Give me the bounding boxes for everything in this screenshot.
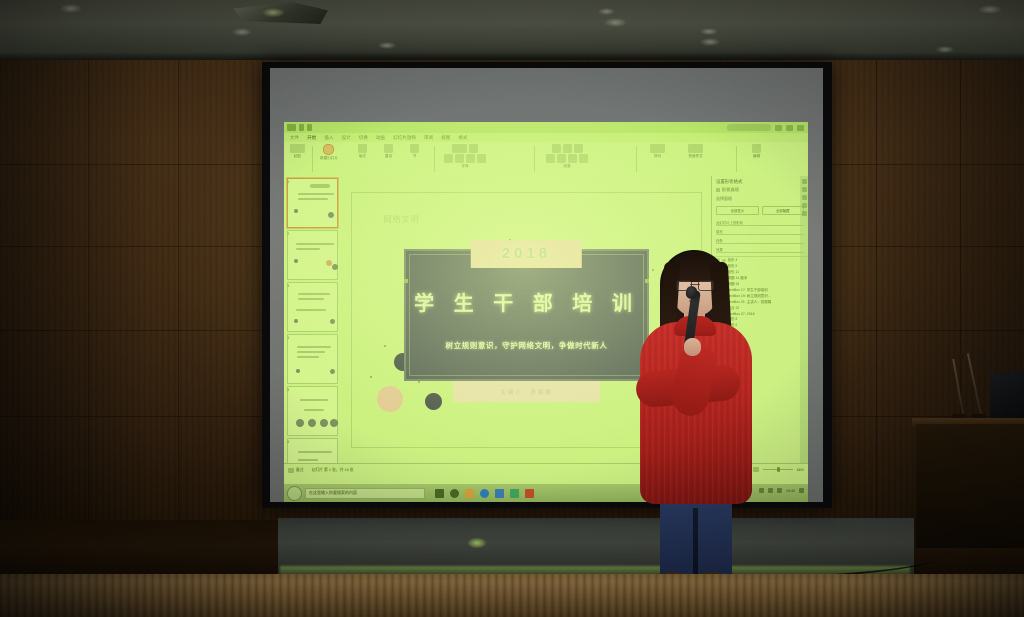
thumb-line	[297, 351, 325, 353]
search-input[interactable]: 在这里输入你要搜索的内容	[305, 488, 425, 499]
thumb-dot	[332, 264, 338, 270]
ribbon-group-edit[interactable]: 编辑	[752, 144, 761, 159]
thumb-dot	[326, 260, 332, 266]
thumb-line	[298, 298, 324, 300]
paragraph-row-2[interactable]	[546, 154, 588, 163]
projector-lens-icon	[262, 8, 284, 17]
tab-slideshow[interactable]: 幻灯片放映	[393, 135, 416, 141]
thumbnail-number: 4	[288, 336, 290, 340]
clock-time[interactable]: 19:42	[786, 489, 795, 493]
ribbon-label: 节	[413, 154, 417, 159]
cortana-icon[interactable]	[450, 489, 459, 498]
thumb-dot	[320, 419, 328, 427]
glasses-lens-right	[698, 280, 714, 291]
ribbon-label: 版式	[359, 154, 366, 159]
ribbon-group-section[interactable]: 节	[410, 144, 419, 159]
pane-field-fill[interactable]: 填充	[716, 228, 804, 235]
save-icon[interactable]	[287, 124, 296, 131]
thumb-line	[296, 243, 334, 245]
tab-view[interactable]: 视图	[441, 135, 450, 141]
pane-icon-rail[interactable]	[800, 176, 808, 464]
ribbon-separator	[312, 146, 313, 172]
thumb-line	[298, 293, 330, 295]
ceiling-downlight	[60, 4, 82, 13]
numbering-icon[interactable]	[563, 144, 572, 153]
thumb-dot	[308, 419, 316, 427]
slide-thumbnail[interactable]: 4	[287, 334, 338, 384]
wechat-icon[interactable]	[510, 489, 519, 498]
align-left-icon[interactable]	[546, 154, 555, 163]
file-explorer-icon[interactable]	[465, 489, 474, 498]
thumb-dot	[294, 209, 298, 213]
task-view-icon[interactable]	[435, 489, 444, 498]
thumb-dot	[296, 419, 304, 427]
font-size-box[interactable]	[469, 144, 478, 153]
pane-subtitle-text: 形状选项	[722, 187, 739, 193]
presenter-band[interactable]: 主讲人：张丽娟	[453, 381, 599, 403]
presenter-person	[632, 246, 758, 586]
design-icon[interactable]	[802, 211, 807, 216]
ribbon-group-paragraph[interactable]: 段落	[546, 144, 588, 169]
start-button[interactable]	[287, 486, 302, 501]
pane-subtitle: 形状选项	[712, 186, 808, 194]
underline-icon[interactable]	[466, 154, 475, 163]
paste-icon[interactable]	[290, 144, 305, 153]
edge-icon[interactable]	[480, 489, 489, 498]
zoom-level-label: 66%	[797, 468, 804, 472]
decor-circle-dark	[425, 393, 442, 410]
ribbon-body[interactable]: 粘贴 新建幻灯片 版式 重设 节	[284, 142, 808, 177]
thumb-dot	[328, 212, 334, 218]
close-button[interactable]	[797, 125, 804, 131]
ribbon-group-font[interactable]: 字体	[444, 144, 486, 169]
slide-watermark: 网络文明	[384, 214, 420, 225]
ceiling-downlight	[598, 8, 615, 15]
thumb-line	[298, 193, 334, 195]
decor-dot	[384, 345, 386, 347]
year-text: 2018	[502, 245, 551, 262]
thumbnail-number: 1	[288, 180, 290, 184]
tab-transitions[interactable]: 切换	[359, 135, 368, 141]
ribbon-label: 重设	[385, 154, 392, 159]
ceiling-downlight	[700, 28, 718, 35]
thumb-line	[298, 459, 318, 461]
ribbon-label: 编辑	[753, 154, 760, 159]
decor-circle-peach	[377, 386, 403, 412]
font-style-row[interactable]	[444, 154, 486, 163]
slide-thumbnail[interactable]: 3	[287, 282, 338, 332]
thumb-line	[297, 356, 319, 358]
quick-access-toolbar[interactable]	[287, 124, 312, 131]
decor-dot	[370, 376, 372, 378]
network-icon[interactable]	[759, 488, 764, 493]
slide-thumbnail[interactable]: 1	[287, 178, 338, 228]
ceiling-downlight	[936, 46, 954, 53]
thumb-line	[304, 409, 324, 411]
selection-icon[interactable]	[802, 203, 807, 208]
layout-icon[interactable]	[358, 144, 367, 153]
selection-pane-link[interactable]: 选择窗格	[712, 194, 808, 204]
notification-icon[interactable]	[799, 488, 804, 493]
thumb-line	[296, 248, 320, 250]
title-frame[interactable]: 2018 学 生 干 部 培 训 树立规则意识，守护网络文明，争做时代新人	[404, 249, 648, 381]
slide-thumbnail-panel[interactable]: 1 2 3	[284, 176, 342, 464]
line-spacing-icon[interactable]	[579, 154, 588, 163]
ime-icon[interactable]	[777, 488, 782, 493]
thumb-line	[297, 346, 331, 348]
tab-animations[interactable]: 动画	[376, 135, 385, 141]
show-all-button[interactable]: 全部显示	[716, 206, 759, 215]
indent-icon[interactable]	[574, 144, 583, 153]
slide-subtitle: 树立规则意识，守护网络文明，争做时代新人	[406, 340, 646, 351]
pane-field-shapes[interactable]: 此幻灯片上的形状	[716, 219, 804, 226]
slide-thumbnail[interactable]: 2	[287, 230, 338, 280]
status-notes[interactable]: 备注 幻灯片 第 1 张，共 16 张	[288, 468, 354, 473]
stage-shadow-right	[844, 574, 1024, 617]
thumb-dot	[296, 369, 300, 373]
podium-laptop	[990, 370, 1024, 424]
podium	[916, 424, 1024, 548]
account-chip[interactable]	[727, 124, 771, 131]
minimize-button[interactable]	[775, 125, 782, 131]
ribbon-group-quick-styles[interactable]: 快速样式	[688, 144, 703, 159]
thumbnail-number: 5	[288, 388, 290, 392]
auditorium-photo: 文件 开始 插入 设计 切换 动画 幻灯片放映 审阅 视图 格式 粘贴	[0, 0, 1024, 617]
zoom-slider-knob[interactable]	[777, 467, 780, 472]
bullets-icon[interactable]	[552, 144, 561, 153]
hand	[684, 338, 701, 356]
thumb-line	[298, 198, 328, 200]
align-right-icon[interactable]	[568, 154, 577, 163]
store-icon[interactable]	[495, 489, 504, 498]
podium-microphone-head	[958, 354, 964, 359]
thumbnail-number: 2	[288, 232, 290, 236]
ceiling-downlight	[604, 18, 627, 27]
tab-review[interactable]: 审阅	[424, 135, 433, 141]
window-controls[interactable]	[727, 124, 804, 131]
thumb-shape	[310, 184, 330, 188]
presenter-text: 主讲人：张丽娟	[500, 388, 553, 396]
hide-all-button[interactable]: 全部隐藏	[762, 206, 805, 215]
stage-shadow-left	[0, 574, 280, 617]
ribbon-label: 快速样式	[688, 154, 702, 159]
taskbar-pinned-apps[interactable]	[435, 489, 534, 498]
ceiling	[0, 0, 1024, 66]
thumb-line	[300, 399, 328, 401]
redo-icon[interactable]	[307, 124, 312, 131]
ribbon-label: 字体	[461, 164, 468, 169]
ribbon-label: 新建幻灯片	[320, 156, 338, 161]
ribbon-group-arrange[interactable]: 排列	[650, 144, 665, 159]
tab-design[interactable]: 设计	[342, 135, 351, 141]
year-badge[interactable]: 2018	[471, 240, 581, 268]
ribbon-label: 粘贴	[294, 154, 301, 159]
ribbon-separator	[534, 146, 535, 172]
font-name-box[interactable]	[452, 144, 467, 153]
format-icon[interactable]	[802, 179, 807, 184]
animation-icon[interactable]	[802, 187, 807, 192]
podium-microphone-head	[976, 348, 982, 353]
thumb-line	[296, 309, 326, 311]
thumb-dot	[330, 419, 338, 427]
edit-icon[interactable]	[752, 144, 761, 153]
pane-title: 设置形状格式	[712, 176, 808, 186]
ceiling-downlight	[700, 38, 720, 46]
align-center-icon[interactable]	[557, 154, 566, 163]
pane-buttons[interactable]: 全部显示 全部隐藏	[712, 204, 808, 217]
ribbon-group-new-slide[interactable]: 新建幻灯片	[320, 144, 338, 161]
ribbon-label: 段落	[563, 164, 570, 169]
floor-light-reflection	[468, 538, 486, 548]
new-slide-icon[interactable]	[323, 144, 334, 155]
ribbon-separator	[636, 146, 637, 172]
powerpoint-icon[interactable]	[525, 489, 534, 498]
slide-thumbnail[interactable]: 6	[287, 438, 338, 464]
window-titlebar	[284, 122, 808, 133]
font-row[interactable]	[452, 144, 478, 153]
slide-count-label: 幻灯片 第 1 张，共 16 张	[312, 468, 354, 473]
arrange-icon[interactable]	[650, 144, 665, 153]
maximize-button[interactable]	[786, 125, 793, 131]
ceiling-downlight	[378, 42, 396, 49]
wall-shadow-left	[0, 60, 150, 530]
decor-dot	[418, 381, 420, 383]
section-icon[interactable]	[410, 144, 419, 153]
thumb-dot	[294, 319, 298, 323]
ribbon-separator	[736, 146, 737, 172]
font-color-icon[interactable]	[477, 154, 486, 163]
tab-insert[interactable]: 插入	[324, 135, 333, 141]
ceiling-downlight	[978, 5, 1002, 14]
ribbon-group-paste[interactable]: 粘贴	[290, 144, 305, 159]
ribbon-separator	[434, 146, 435, 172]
ribbon-group-reset[interactable]: 重设	[384, 144, 393, 159]
tab-home[interactable]: 开始	[307, 135, 316, 141]
slide-main-title: 学 生 干 部 培 训	[406, 287, 646, 316]
thumbnail-number: 3	[288, 284, 290, 288]
ribbon-tabs[interactable]: 文件 开始 插入 设计 切换 动画 幻灯片放映 审阅 视图 格式	[284, 133, 808, 142]
tab-format[interactable]: 格式	[458, 135, 467, 141]
undo-icon[interactable]	[299, 124, 304, 131]
notes-label: 备注	[296, 468, 304, 473]
ribbon-group-layout[interactable]: 版式	[358, 144, 367, 159]
notes-icon[interactable]	[288, 468, 294, 473]
ceiling-downlight	[232, 28, 252, 36]
thumb-dot	[294, 259, 298, 263]
reset-icon[interactable]	[384, 144, 393, 153]
paragraph-row-1[interactable]	[552, 144, 583, 153]
thumb-line	[298, 451, 332, 453]
thumb-dot	[330, 369, 335, 374]
thumb-dot	[330, 319, 335, 324]
bold-icon[interactable]	[444, 154, 453, 163]
comment-icon[interactable]	[802, 195, 807, 200]
volume-icon[interactable]	[768, 488, 773, 493]
pane-shape-icon	[716, 188, 720, 192]
quick-styles-icon[interactable]	[688, 144, 703, 153]
tab-file[interactable]: 文件	[290, 135, 299, 141]
zoom-slider[interactable]	[763, 469, 793, 470]
italic-icon[interactable]	[455, 154, 464, 163]
pane-field-line[interactable]: 线条	[716, 237, 804, 244]
thumbnail-number: 6	[288, 440, 290, 444]
selection-handle[interactable]	[404, 279, 408, 283]
slide-thumbnail[interactable]: 5	[287, 386, 338, 436]
ribbon-label: 排列	[654, 154, 661, 159]
system-tray[interactable]: 19:42	[759, 488, 804, 493]
